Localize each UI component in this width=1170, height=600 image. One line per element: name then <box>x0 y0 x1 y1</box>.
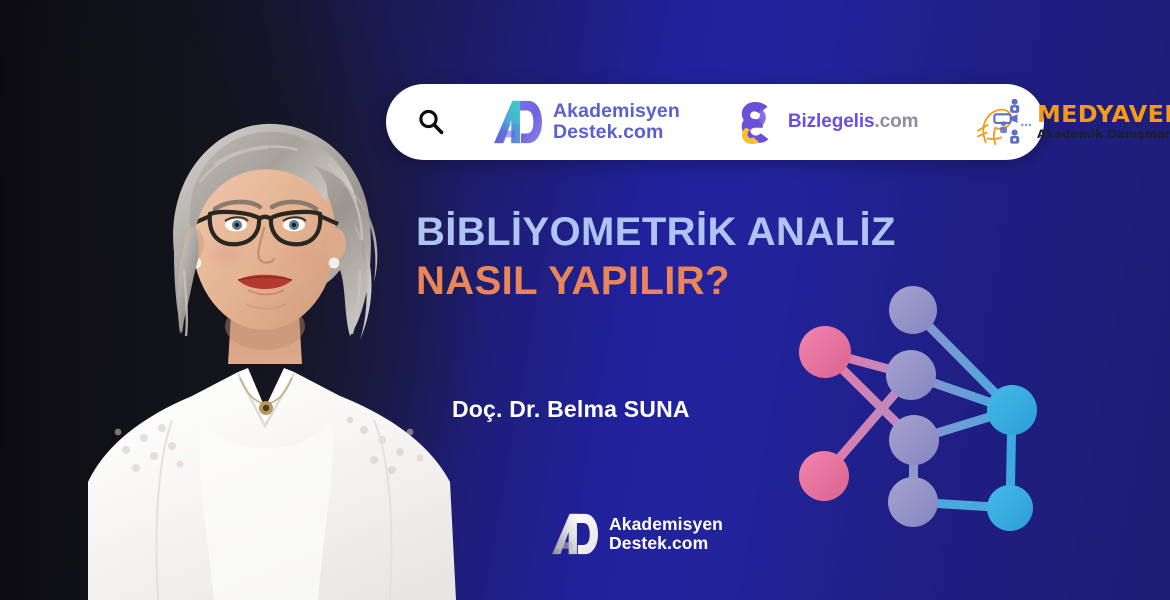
headline-line-1: BİBLİYOMETRİK ANALİZ <box>416 210 896 255</box>
node-purple-2 <box>886 350 936 400</box>
speaker-photo <box>88 120 456 600</box>
node-cyan-2 <box>987 485 1033 531</box>
logo-bizlegelis[interactable]: Bizlegelis.com <box>738 94 919 150</box>
headline-line-2: NASIL YAPILIR? <box>416 259 896 304</box>
network-graph <box>778 278 1050 540</box>
watermark-wordmark: Akademisyen Destek.com <box>609 515 723 553</box>
node-purple-4 <box>888 477 938 527</box>
slide-headline: BİBLİYOMETRİK ANALİZ NASIL YAPILIR? <box>416 210 896 304</box>
slide-canvas: Akademisyen Destek.com Bizlegelis.com <box>0 0 1170 600</box>
vr-person-icon <box>976 96 1032 148</box>
network-nodes <box>799 286 1037 531</box>
node-cyan-1 <box>987 385 1037 435</box>
logo-medyaverse[interactable]: MEDYAVERSE Akademik Danışmanlık <box>976 94 1170 150</box>
node-purple-1 <box>889 286 937 334</box>
node-pink-2 <box>799 451 849 501</box>
speaker-name: Doç. Dr. Belma SUNA <box>452 396 690 423</box>
speaker-portrait-illustration <box>88 120 456 600</box>
ad-monogram-icon <box>494 99 544 145</box>
search-icon[interactable] <box>416 107 446 137</box>
node-purple-3 <box>889 415 939 465</box>
logo-akademisyen-destek[interactable]: Akademisyen Destek.com <box>494 94 680 150</box>
watermark-akademisyen-destek: Akademisyen Destek.com <box>552 512 723 556</box>
ad-monogram-icon <box>552 512 600 556</box>
sponsor-logo-bar: Akademisyen Destek.com Bizlegelis.com <box>386 84 1044 160</box>
node-pink-1 <box>799 326 851 378</box>
logo-akademisyen-destek-wordmark: Akademisyen Destek.com <box>553 101 680 142</box>
logo-bizlegelis-wordmark: Bizlegelis.com <box>788 111 919 133</box>
b-arrow-icon <box>738 99 778 145</box>
logo-medyaverse-wordmark: MEDYAVERSE Akademik Danışmanlık <box>1037 104 1170 141</box>
